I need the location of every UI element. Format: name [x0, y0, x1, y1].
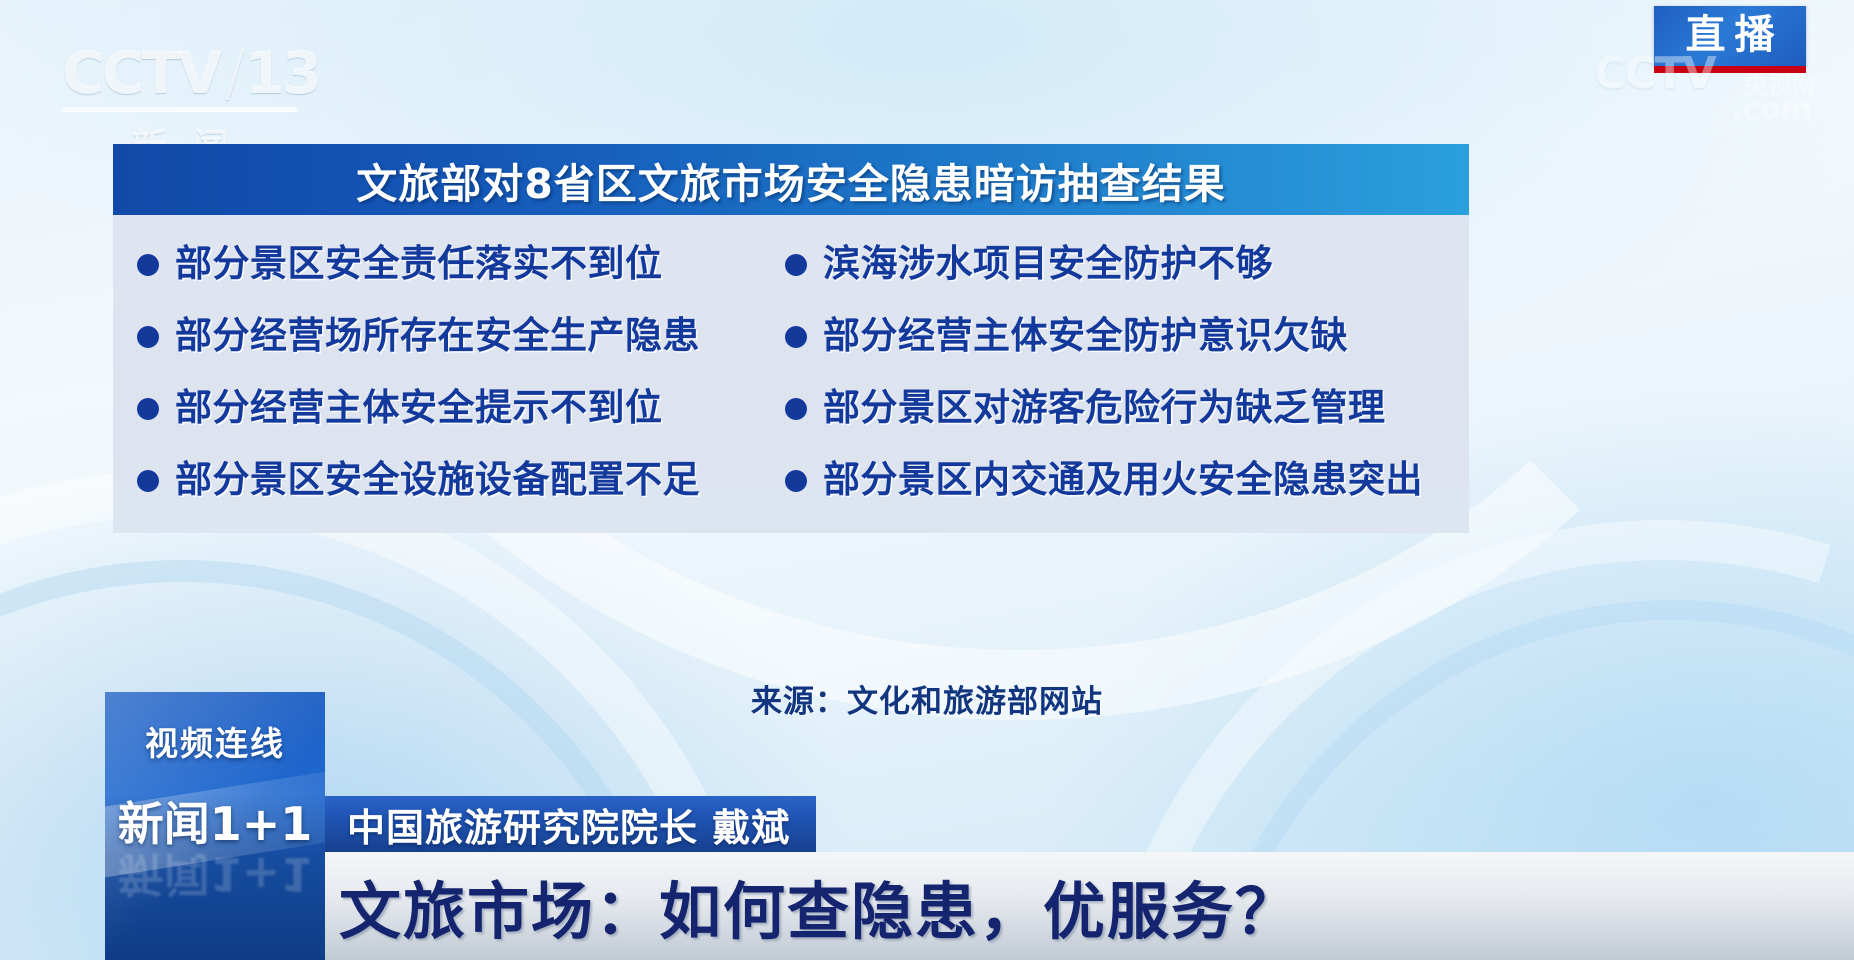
bullet-label: 部分景区内交通及用火安全隐患突出 [823, 457, 1423, 502]
channel-logo-underline [62, 107, 298, 112]
live-badge: 直播 [1654, 6, 1806, 73]
bullet-dot-icon [137, 326, 159, 348]
guest-name-label: 中国旅游研究院院长 戴斌 [347, 797, 790, 852]
bullet-item-left-3: 部分经营主体安全提示不到位 [113, 385, 773, 430]
bullet-dot-icon [785, 326, 807, 348]
headline-label: 文旅市场：如何查隐患，优服务？ [339, 861, 1299, 951]
bullet-item-right-4: 部分景区内交通及用火安全隐患突出 [773, 457, 1469, 502]
bullet-label: 部分景区安全责任落实不到位 [175, 241, 663, 286]
bullet-row: 部分经营场所存在安全生产隐患 部分经营主体安全防护意识欠缺 [113, 313, 1469, 358]
bullet-label: 部分景区安全设施设备配置不足 [175, 457, 700, 502]
bullet-row: 部分经营主体安全提示不到位 部分景区对游客危险行为缺乏管理 [113, 385, 1469, 430]
bullet-dot-icon [137, 398, 159, 420]
program-name-label: 新闻1+1 [105, 788, 325, 854]
channel-logo-slash-icon: / [225, 42, 243, 104]
bullet-label: 部分经营主体安全提示不到位 [175, 385, 663, 430]
channel-logo-text: CCTV [62, 44, 220, 102]
bullet-row: 部分景区安全设施设备配置不足 部分景区内交通及用火安全隐患突出 [113, 457, 1469, 502]
cctv13-channel-logo: CCTV / 13 新闻 [62, 42, 324, 158]
bullet-label: 部分经营主体安全防护意识欠缺 [823, 313, 1348, 358]
info-panel: 文旅部对8省区文旅市场安全隐患暗访抽查结果 部分景区安全责任落实不到位 滨海涉水… [113, 144, 1469, 533]
bullet-label: 滨海涉水项目安全防护不够 [823, 241, 1273, 286]
guest-name-bar: 中国旅游研究院院长 戴斌 [325, 796, 816, 852]
bullet-dot-icon [137, 254, 159, 276]
bullet-item-right-2: 部分经营主体安全防护意识欠缺 [773, 313, 1469, 358]
bullet-dot-icon [785, 398, 807, 420]
bullet-item-right-1: 滨海涉水项目安全防护不够 [773, 241, 1469, 286]
panel-header: 文旅部对8省区文旅市场安全隐患暗访抽查结果 [113, 144, 1469, 215]
bullet-item-right-3: 部分景区对游客危险行为缺乏管理 [773, 385, 1469, 430]
panel-body: 部分景区安全责任落实不到位 滨海涉水项目安全防护不够 部分经营场所存在安全生产隐… [113, 215, 1469, 533]
channel-logo-number: 13 [244, 44, 319, 102]
cctv-com-domain-text: .com [1731, 92, 1812, 127]
panel-title: 文旅部对8省区文旅市场安全隐患暗访抽查结果 [356, 150, 1226, 210]
channel-logo-row: CCTV / 13 [62, 42, 324, 104]
bullet-dot-icon [785, 470, 807, 492]
program-identity-block: 视频连线 新闻1+1 新闻1+1 [105, 692, 325, 960]
bullet-item-left-2: 部分经营场所存在安全生产隐患 [113, 313, 773, 358]
broadcast-screen: CCTV / 13 新闻 直播 CCTV 央视网 .com 文旅部对8省区文旅市… [0, 0, 1854, 960]
bullet-row: 部分景区安全责任落实不到位 滨海涉水项目安全防护不够 [113, 241, 1469, 286]
bullet-item-left-1: 部分景区安全责任落实不到位 [113, 241, 773, 286]
bullet-item-left-4: 部分景区安全设施设备配置不足 [113, 457, 773, 502]
lower-third: 视频连线 新闻1+1 新闻1+1 中国旅游研究院院长 戴斌 文旅市场：如何查隐患… [0, 692, 1854, 960]
live-badge-underline [1654, 66, 1806, 73]
bullet-label: 部分经营场所存在安全生产隐患 [175, 313, 700, 358]
bullet-dot-icon [137, 470, 159, 492]
live-badge-label: 直播 [1654, 6, 1806, 66]
headline-bar: 文旅市场：如何查隐患，优服务？ [325, 852, 1854, 960]
bullet-dot-icon [785, 254, 807, 276]
bullet-label: 部分景区对游客危险行为缺乏管理 [823, 385, 1386, 430]
connection-mode-label: 视频连线 [105, 717, 325, 765]
